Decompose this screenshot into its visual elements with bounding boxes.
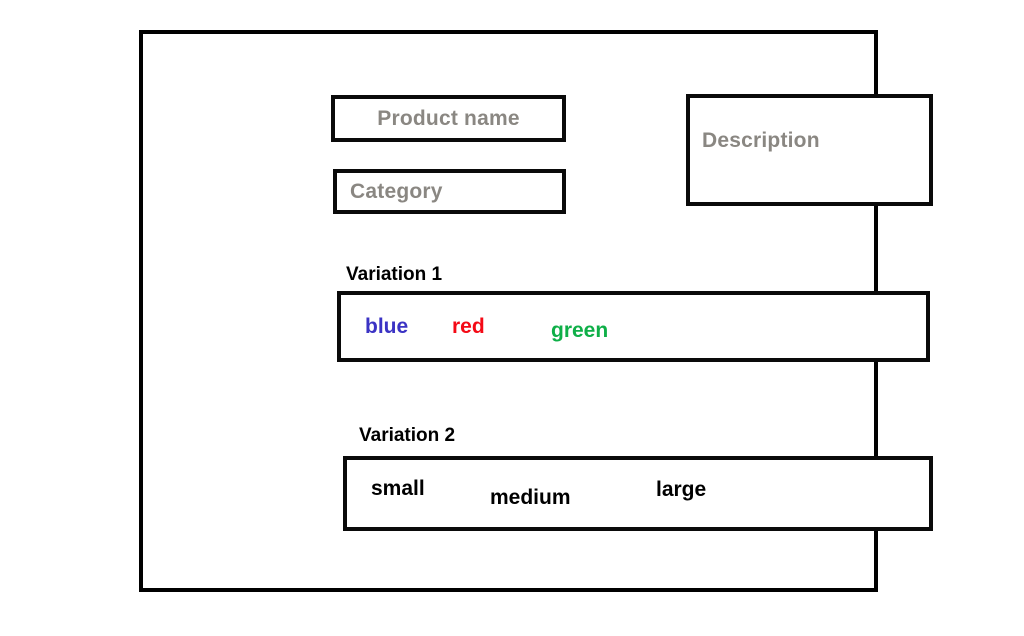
variation-2-option-large[interactable]: large (656, 478, 706, 502)
variation-2-option-medium[interactable]: medium (490, 486, 571, 510)
variation-1-options-box[interactable]: blue red green (337, 291, 930, 362)
description-placeholder: Description (702, 129, 820, 153)
variation-2-label: Variation 2 (359, 425, 455, 447)
variation-1-option-red[interactable]: red (452, 315, 485, 339)
description-textarea[interactable]: Description (686, 94, 933, 206)
variation-2-options-box[interactable]: small medium large (343, 456, 933, 531)
product-name-input[interactable]: Product name (331, 95, 566, 142)
category-input[interactable]: Category (333, 169, 566, 214)
variation-2-option-small[interactable]: small (371, 477, 425, 501)
variation-1-option-green[interactable]: green (551, 319, 608, 343)
variation-1-label: Variation 1 (346, 264, 442, 286)
mockup-outer-frame: Product name Category Description Variat… (139, 30, 878, 592)
wireframe-canvas: Product name Category Description Variat… (0, 0, 1024, 636)
variation-1-option-blue[interactable]: blue (365, 315, 408, 339)
product-name-placeholder: Product name (335, 107, 562, 131)
category-placeholder: Category (350, 180, 443, 204)
